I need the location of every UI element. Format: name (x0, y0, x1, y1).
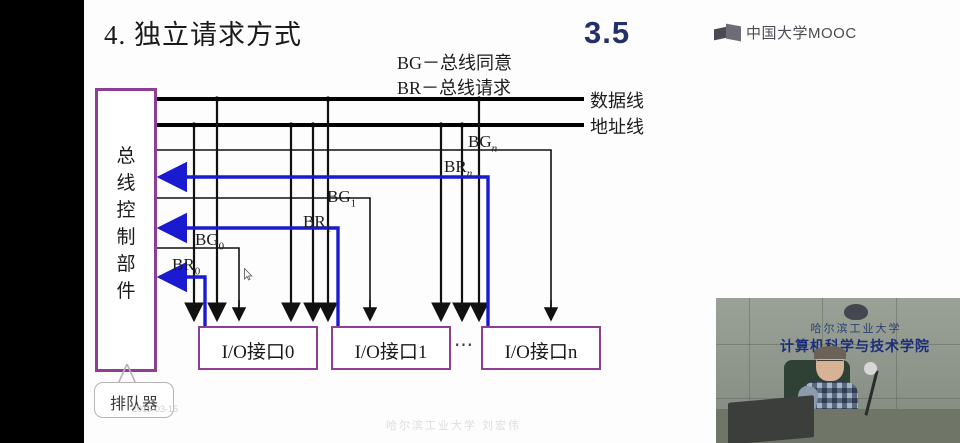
book-icon (714, 25, 741, 41)
university-crest-icon (844, 304, 868, 320)
glasses-icon (817, 360, 843, 367)
slide-footer: 哈尔滨工业大学 刘宏伟 (386, 421, 521, 432)
bus-controller-box[interactable]: 总 线 控 制 部 件 (95, 88, 157, 372)
io-interface-label: I/O接口1 (333, 337, 449, 364)
mooc-brand: 中国大学MOOC (714, 22, 857, 43)
legend-bg: BG－总线同意 (397, 54, 512, 72)
wire-label-br1: BR1 (303, 213, 331, 234)
screen: 4. 独立请求方式 3.5 中国大学MOOC BG－总线同意 BR－总线请求 数… (0, 0, 960, 443)
callout-pointer-icon (114, 364, 140, 384)
video-banner-top: 哈尔滨工业大学 (766, 320, 946, 336)
wire-label-brn: BRn (444, 158, 472, 179)
lecturer-video[interactable]: 哈尔滨工业大学 计算机科学与技术学院 (716, 298, 960, 443)
ellipsis: ⋯ (454, 336, 475, 355)
microphone-icon (864, 362, 877, 375)
wire-label-bg1: BG1 (327, 188, 356, 209)
io-interface-label: I/O接口n (483, 337, 599, 364)
wire-label-bgn: BGn (468, 133, 497, 154)
date-watermark: 2015-03-15 (132, 404, 178, 414)
io-interface-box[interactable]: I/O接口n (481, 326, 601, 370)
io-interface-label: I/O接口0 (200, 337, 316, 364)
laptop (728, 395, 814, 443)
legend-br: BR－总线请求 (397, 79, 511, 97)
address-line-label: 地址线 (590, 118, 644, 136)
data-line-label: 数据线 (590, 92, 644, 110)
lecturer-hair (814, 346, 846, 359)
wire-label-br0: BR0 (172, 256, 200, 277)
io-interface-box[interactable]: I/O接口0 (198, 326, 318, 370)
page-title: 4. 独立请求方式 (104, 22, 302, 49)
bus-controller-label: 总 线 控 制 部 件 (98, 143, 154, 305)
section-number: 3.5 (584, 17, 630, 48)
mooc-brand-label: 中国大学MOOC (746, 22, 857, 43)
slide-canvas: 4. 独立请求方式 3.5 中国大学MOOC BG－总线同意 BR－总线请求 数… (84, 0, 960, 443)
io-interface-box[interactable]: I/O接口1 (331, 326, 451, 370)
wire-label-bg0: BG0 (195, 231, 224, 252)
mouse-cursor-icon (244, 268, 253, 281)
